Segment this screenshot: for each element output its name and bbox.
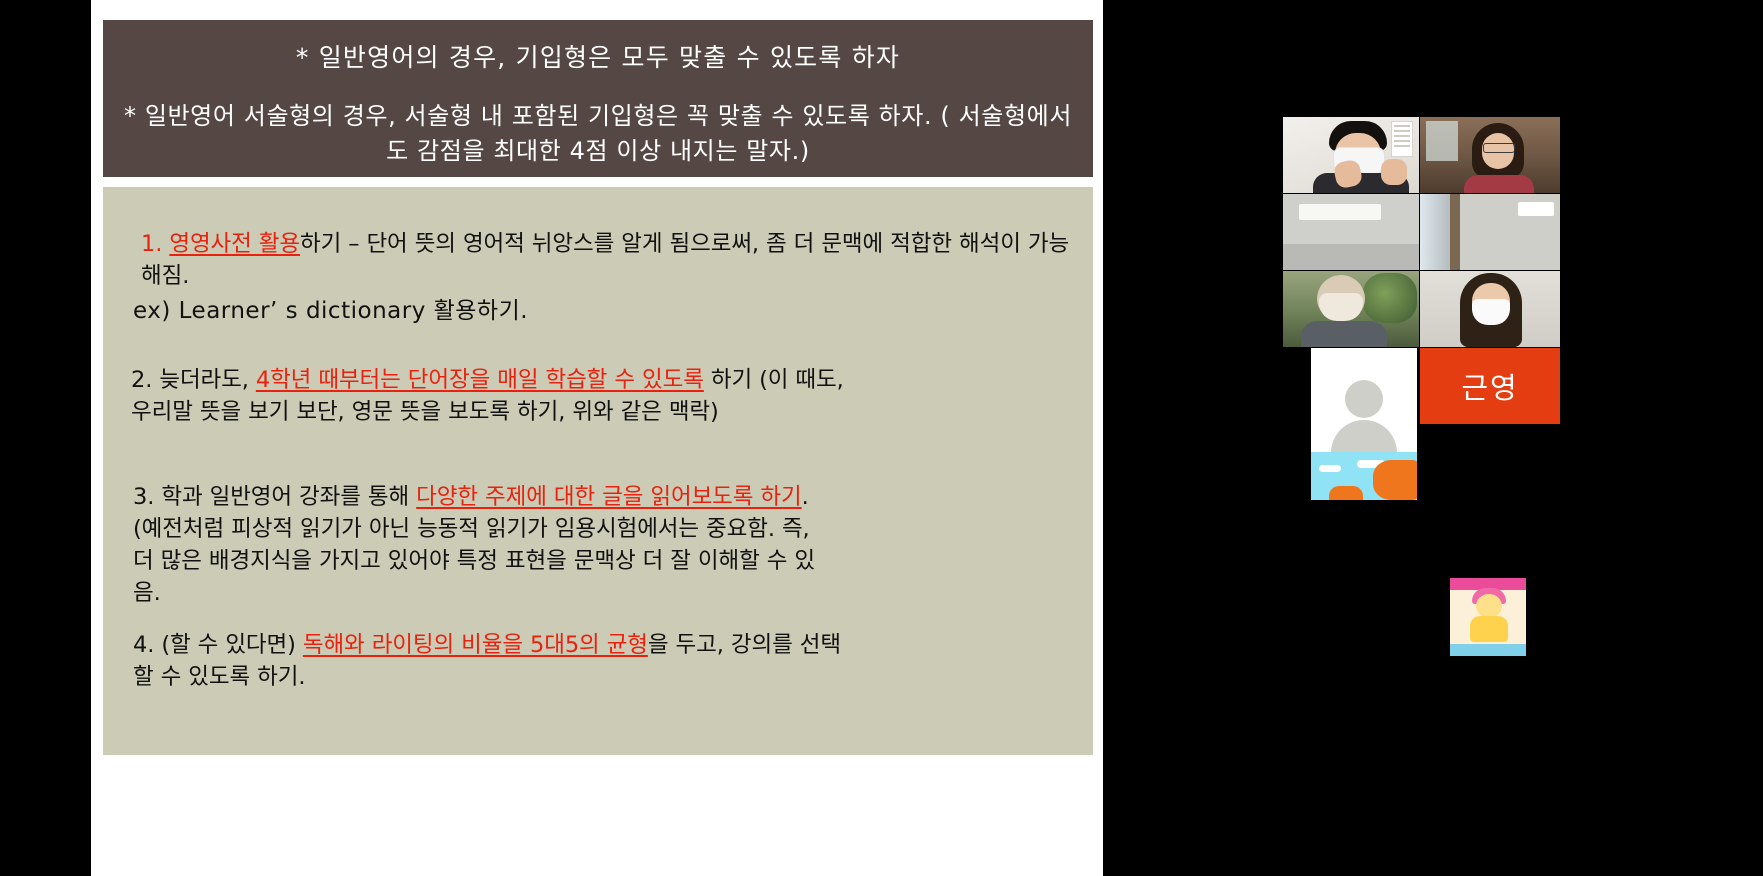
item-3-line-4: 음. bbox=[133, 578, 1073, 610]
person-shirt bbox=[1464, 175, 1534, 193]
window-frame bbox=[1450, 194, 1460, 270]
item-4-highlight: 독해와 라이팅의 비율을 5대5의 균형 bbox=[303, 632, 648, 658]
slide-list-item-2: 2. 늦더라도, 4학년 때부터는 단어장을 매일 학습할 수 있도록 하기 (… bbox=[131, 365, 1071, 429]
slide-body-panel: 1. 영영사전 활용하기 – 단어 뜻의 영어적 뉘앙스를 알게 됨으로써, 좀… bbox=[103, 187, 1093, 755]
item-2-number: 2. bbox=[131, 367, 152, 393]
participant-tile[interactable] bbox=[1420, 194, 1560, 270]
window-light bbox=[1426, 121, 1458, 161]
slide-title-line-1: * 일반영어의 경우, 기입형은 모두 맞출 수 있도록 하자 bbox=[115, 42, 1081, 73]
item-2-text: 하기 (이 때도, bbox=[704, 367, 844, 393]
cartoon-base bbox=[1450, 644, 1526, 656]
slide-list-item-1-example: ex) Learner’ s dictionary 활용하기. bbox=[133, 295, 1063, 328]
window-panel bbox=[1420, 194, 1454, 270]
window-glare bbox=[1518, 202, 1554, 216]
item-2-line-2: 우리말 뜻을 보기 보단, 영문 뜻을 보도록 하기, 위와 같은 맥락) bbox=[131, 397, 1071, 429]
item-3-lead: 학과 일반영어 강좌를 통해 bbox=[161, 484, 416, 510]
participant-tile-name-only[interactable]: 근영 bbox=[1420, 348, 1560, 424]
participant-tile[interactable] bbox=[1283, 271, 1419, 347]
glasses-icon bbox=[1483, 143, 1515, 153]
cloud-icon bbox=[1319, 465, 1341, 472]
participant-tile[interactable] bbox=[1283, 194, 1419, 270]
participant-tile[interactable] bbox=[1450, 578, 1526, 656]
app-root: * 일반영어의 경우, 기입형은 모두 맞출 수 있도록 하자 * 일반영어 서… bbox=[0, 0, 1763, 876]
wall-calendar bbox=[1391, 121, 1413, 157]
item-1-number: 1. bbox=[141, 231, 162, 257]
item-3-number: 3. bbox=[133, 484, 154, 510]
cartoon-character-head bbox=[1476, 594, 1502, 618]
cartoon-character-body bbox=[1470, 616, 1508, 642]
participant-video-rail: 근영 bbox=[1103, 0, 1763, 876]
wall-shadow bbox=[1283, 244, 1419, 270]
shared-slide: * 일반영어의 경우, 기입형은 모두 맞출 수 있도록 하자 * 일반영어 서… bbox=[91, 0, 1103, 876]
ceiling-light bbox=[1299, 204, 1381, 220]
item-4-number: 4. bbox=[133, 632, 154, 658]
face-mask bbox=[1319, 293, 1363, 321]
item-3-line-2: (예전처럼 피상적 읽기가 아닌 능동적 읽기가 임용시험에서는 중요함. 즉, bbox=[133, 514, 1073, 546]
tree-foliage bbox=[1363, 273, 1417, 323]
person-shirt bbox=[1301, 321, 1387, 347]
person-hand-right bbox=[1381, 159, 1407, 185]
item-3-line-3: 더 많은 배경지식을 가지고 있어야 특정 표현을 문맥상 더 잘 이해할 수 … bbox=[133, 546, 1073, 578]
slide-list-item-4: 4. (할 수 있다면) 독해와 라이팅의 비율을 5대5의 균형을 두고, 강… bbox=[133, 630, 1073, 694]
avatar-icon bbox=[1345, 380, 1383, 418]
slide-title-line-2: * 일반영어 서술형의 경우, 서술형 내 포함된 기입형은 꼭 맞출 수 있도… bbox=[115, 99, 1081, 169]
participant-tile[interactable] bbox=[1420, 271, 1560, 347]
item-3-highlight: 다양한 주제에 대한 글을 읽어보도록 하기 bbox=[416, 484, 801, 510]
item-4-line-2: 할 수 있도록 하기. bbox=[133, 662, 1073, 694]
participant-tile[interactable] bbox=[1283, 117, 1419, 193]
item-1-example-text: ex) Learner’ s dictionary 활용하기. bbox=[133, 298, 528, 324]
slide-list-item-3: 3. 학과 일반영어 강좌를 통해 다양한 주제에 대한 글을 읽어보도록 하기… bbox=[133, 482, 1073, 610]
item-2-highlight: 4학년 때부터는 단어장을 매일 학습할 수 있도록 bbox=[256, 367, 704, 393]
participant-tile[interactable] bbox=[1420, 117, 1560, 193]
participant-name-label: 근영 bbox=[1420, 348, 1560, 424]
item-3-text: . bbox=[802, 484, 809, 510]
slide-title-banner: * 일반영어의 경우, 기입형은 모두 맞출 수 있도록 하자 * 일반영어 서… bbox=[103, 20, 1093, 177]
item-1-highlight: 영영사전 활용 bbox=[169, 231, 300, 257]
item-4-lead: (할 수 있다면) bbox=[161, 632, 303, 658]
boat-shape bbox=[1329, 486, 1363, 500]
boat-shape bbox=[1373, 460, 1417, 500]
item-2-lead: 늦더라도, bbox=[159, 367, 256, 393]
face-mask bbox=[1472, 299, 1510, 325]
participant-tile-avatar[interactable] bbox=[1311, 348, 1417, 500]
slide-list-item-1: 1. 영영사전 활용하기 – 단어 뜻의 영어적 뉘앙스를 알게 됨으로써, 좀… bbox=[141, 229, 1071, 293]
item-4-text: 을 두고, 강의를 선택 bbox=[648, 632, 841, 658]
